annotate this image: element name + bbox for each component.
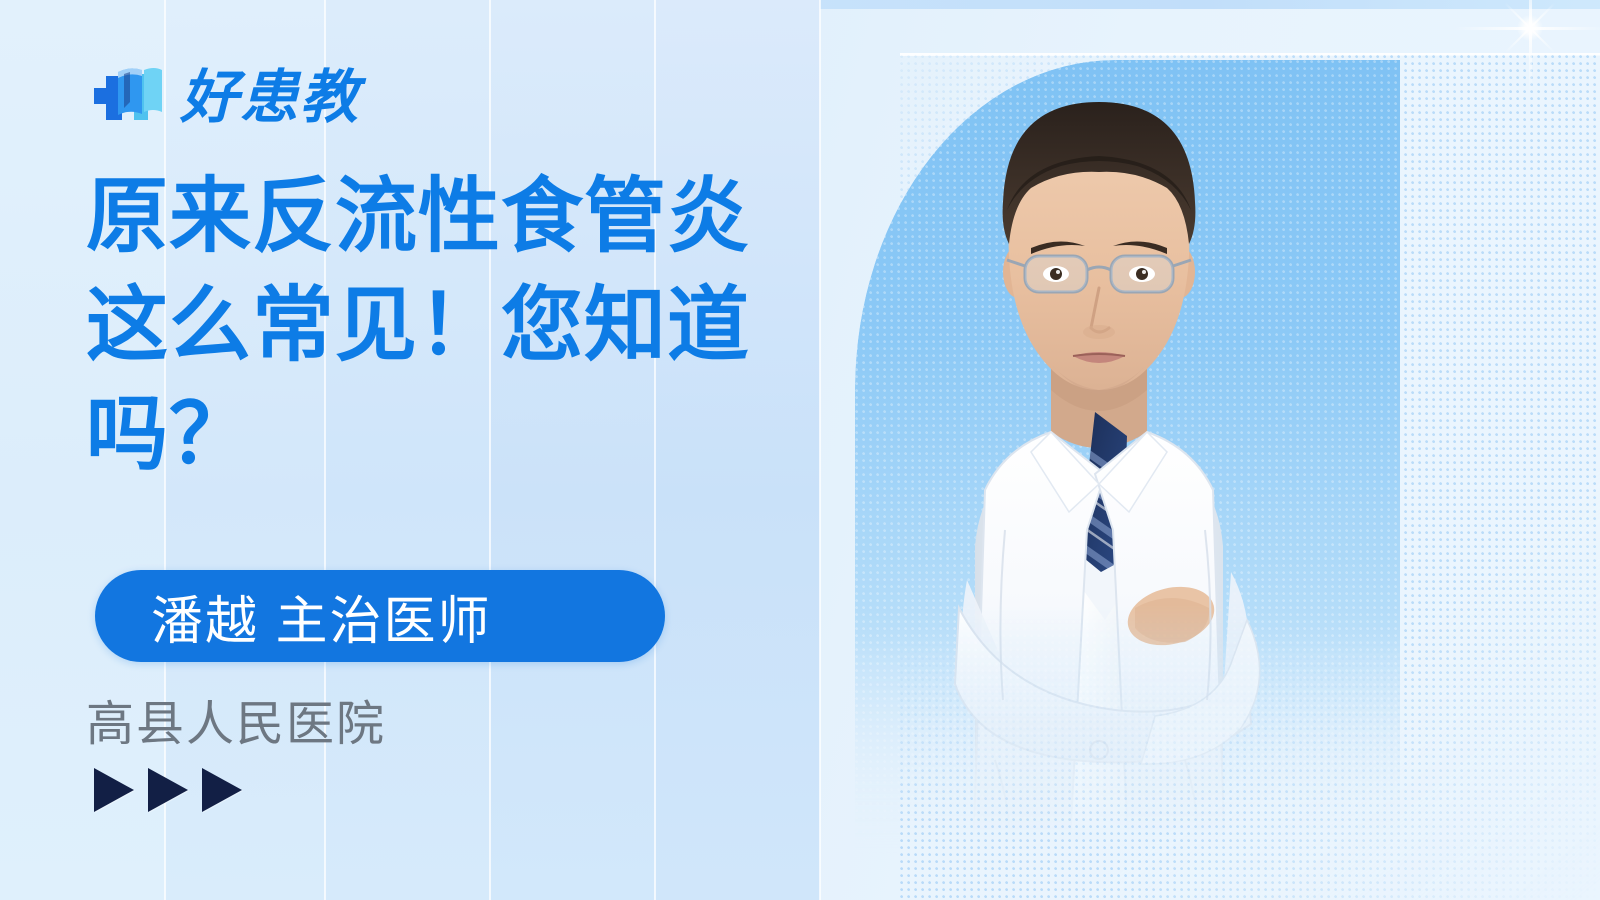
play-arrows	[94, 768, 242, 812]
doctor-photo-area	[855, 60, 1400, 860]
video-cover-poster: 好患教 原来反流性食管炎 这么常见！您知道 吗？ 潘越 主治医师 高县人民医院	[0, 0, 1600, 900]
play-triangle-icon	[202, 768, 242, 812]
medical-cross-book-icon	[88, 62, 166, 134]
page-title: 原来反流性食管炎 这么常见！您知道 吗？	[86, 162, 876, 489]
play-triangle-icon	[94, 768, 134, 812]
doctor-portrait	[855, 60, 1400, 860]
brand-name: 好患教	[180, 69, 360, 127]
doctor-name-badge[interactable]: 潘越 主治医师	[95, 570, 665, 662]
play-triangle-icon	[148, 768, 188, 812]
brand-logo[interactable]: 好患教	[88, 62, 360, 134]
hospital-name: 高县人民医院	[86, 684, 386, 754]
